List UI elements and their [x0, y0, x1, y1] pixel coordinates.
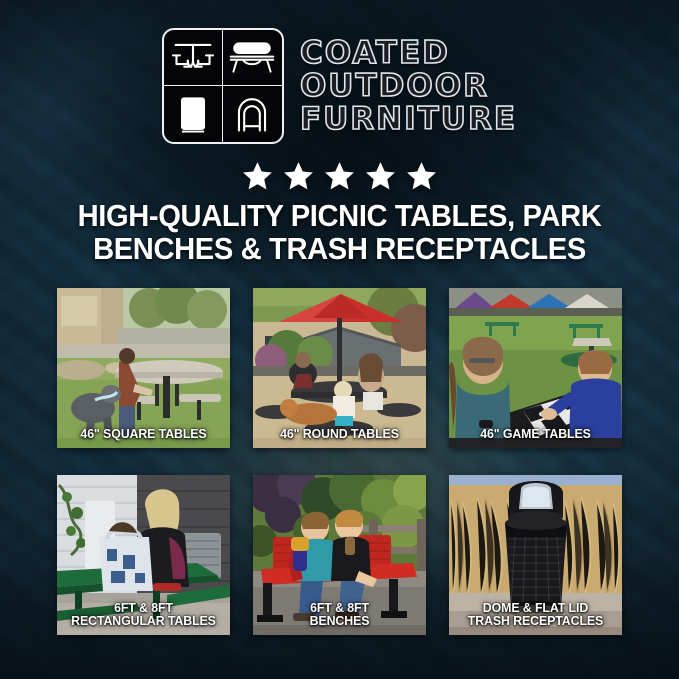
- product-photo-square-tables: [57, 288, 230, 448]
- headline: HIGH-QUALITY PICNIC TABLES, PARK BENCHES…: [20, 199, 658, 266]
- caption-line-2: TRASH RECEPTACLES: [456, 614, 615, 628]
- star-rating: [0, 158, 679, 194]
- product-caption: DOME & FLAT LID TRASH RECEPTACLES: [453, 601, 617, 628]
- trash-receptacle-icon: [164, 86, 223, 142]
- caption-line-1: 6FT & 8FT: [64, 601, 223, 615]
- wordmark-line-2: OUTDOOR: [300, 70, 489, 102]
- star-icon: [405, 160, 438, 192]
- caption-line-2: BENCHES: [260, 614, 419, 628]
- bike-rack-icon: [223, 86, 282, 142]
- product-photo-game-tables: [449, 288, 622, 448]
- brand-wordmark: COATED OUTDOOR FURNITURE: [300, 37, 517, 136]
- product-caption: 6FT & 8FT RECTANGULAR TABLES: [61, 601, 225, 628]
- caption-line-1: DOME & FLAT LID: [456, 601, 615, 615]
- promo-banner: COATED OUTDOOR FURNITURE HIGH-QUALITY PI…: [0, 0, 679, 679]
- headline-line-1: HIGH-QUALITY PICNIC TABLES, PARK: [20, 199, 658, 232]
- caption-line-2: RECTANGULAR TABLES: [64, 614, 223, 628]
- caption-line-1: 46" GAME TABLES: [456, 427, 615, 441]
- park-bench-icon: [223, 30, 282, 86]
- product-caption: 46" ROUND TABLES: [257, 427, 421, 441]
- banner-content: COATED OUTDOOR FURNITURE HIGH-QUALITY PI…: [0, 0, 679, 679]
- product-tile-round-tables[interactable]: 46" ROUND TABLES: [253, 288, 426, 448]
- product-caption: 46" GAME TABLES: [453, 427, 617, 441]
- star-icon: [364, 160, 397, 192]
- star-icon: [323, 160, 356, 192]
- product-caption: 6FT & 8FT BENCHES: [257, 601, 421, 628]
- product-tile-square-tables[interactable]: 46" SQUARE TABLES: [57, 288, 230, 448]
- product-photo-round-tables: [253, 288, 426, 448]
- star-icon: [282, 160, 315, 192]
- caption-line-1: 6FT & 8FT: [260, 601, 419, 615]
- product-tile-trash-receptacles[interactable]: DOME & FLAT LID TRASH RECEPTACLES: [449, 475, 622, 635]
- product-tile-benches[interactable]: 6FT & 8FT BENCHES: [253, 475, 426, 635]
- caption-line-1: 46" SQUARE TABLES: [64, 427, 223, 441]
- product-caption: 46" SQUARE TABLES: [61, 427, 225, 441]
- product-tile-rectangular-tables[interactable]: 6FT & 8FT RECTANGULAR TABLES: [57, 475, 230, 635]
- logo-icon-grid: [162, 28, 284, 144]
- brand-logo: COATED OUTDOOR FURNITURE: [0, 26, 679, 146]
- headline-line-2: BENCHES & TRASH RECEPTACLES: [20, 232, 658, 265]
- picnic-table-icon: [164, 30, 223, 86]
- wordmark-line-3: FURNITURE: [300, 103, 517, 135]
- product-tile-game-tables[interactable]: 46" GAME TABLES: [449, 288, 622, 448]
- star-icon: [241, 160, 274, 192]
- caption-line-1: 46" ROUND TABLES: [260, 427, 419, 441]
- wordmark-line-1: COATED: [300, 37, 450, 69]
- product-grid: 46" SQUARE TABLES: [57, 288, 622, 635]
